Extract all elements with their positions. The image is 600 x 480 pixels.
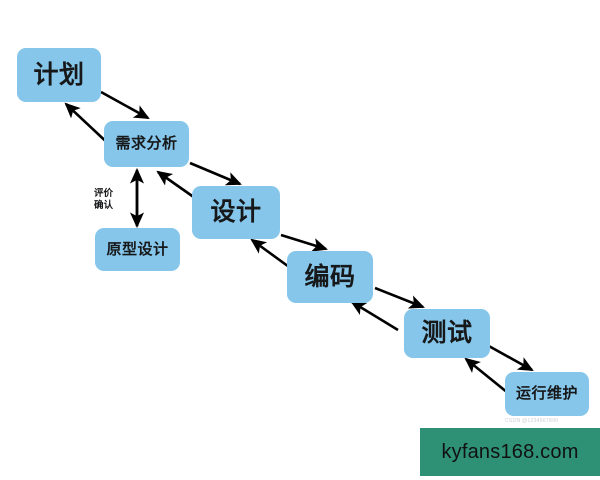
node-prototype-design[interactable]: 原型设计	[95, 228, 180, 271]
edge-label-evaluate-confirm: 评价 确认	[94, 188, 113, 212]
node-maintenance[interactable]: 运行维护	[505, 372, 589, 416]
site-badge: kyfans168.com	[420, 428, 600, 476]
edge-label-line-2: 确认	[94, 200, 113, 212]
node-coding[interactable]: 编码	[287, 251, 373, 303]
node-design[interactable]: 设计	[192, 186, 280, 239]
arrow-design-to-coding	[281, 235, 326, 249]
watermark-text: CSDN @1234567890	[505, 418, 558, 424]
arrow-plan-to-requirement	[101, 92, 148, 118]
node-testing[interactable]: 测试	[404, 309, 490, 358]
node-plan[interactable]: 计划	[17, 48, 101, 102]
edge-label-line-1: 评价	[94, 188, 113, 200]
arrow-testing-to-maintenance	[487, 345, 532, 370]
arrow-coding-to-testing	[375, 288, 423, 307]
arrow-testing-to-coding	[352, 302, 398, 330]
arrow-maintenance-to-testing	[466, 359, 508, 393]
node-requirement-analysis[interactable]: 需求分析	[104, 121, 189, 167]
arrow-requirement-to-design	[190, 163, 240, 184]
diagram-canvas: 计划 需求分析 原型设计 设计 编码 测试 运行维护 评价 确认 CSDN @1…	[0, 0, 600, 480]
